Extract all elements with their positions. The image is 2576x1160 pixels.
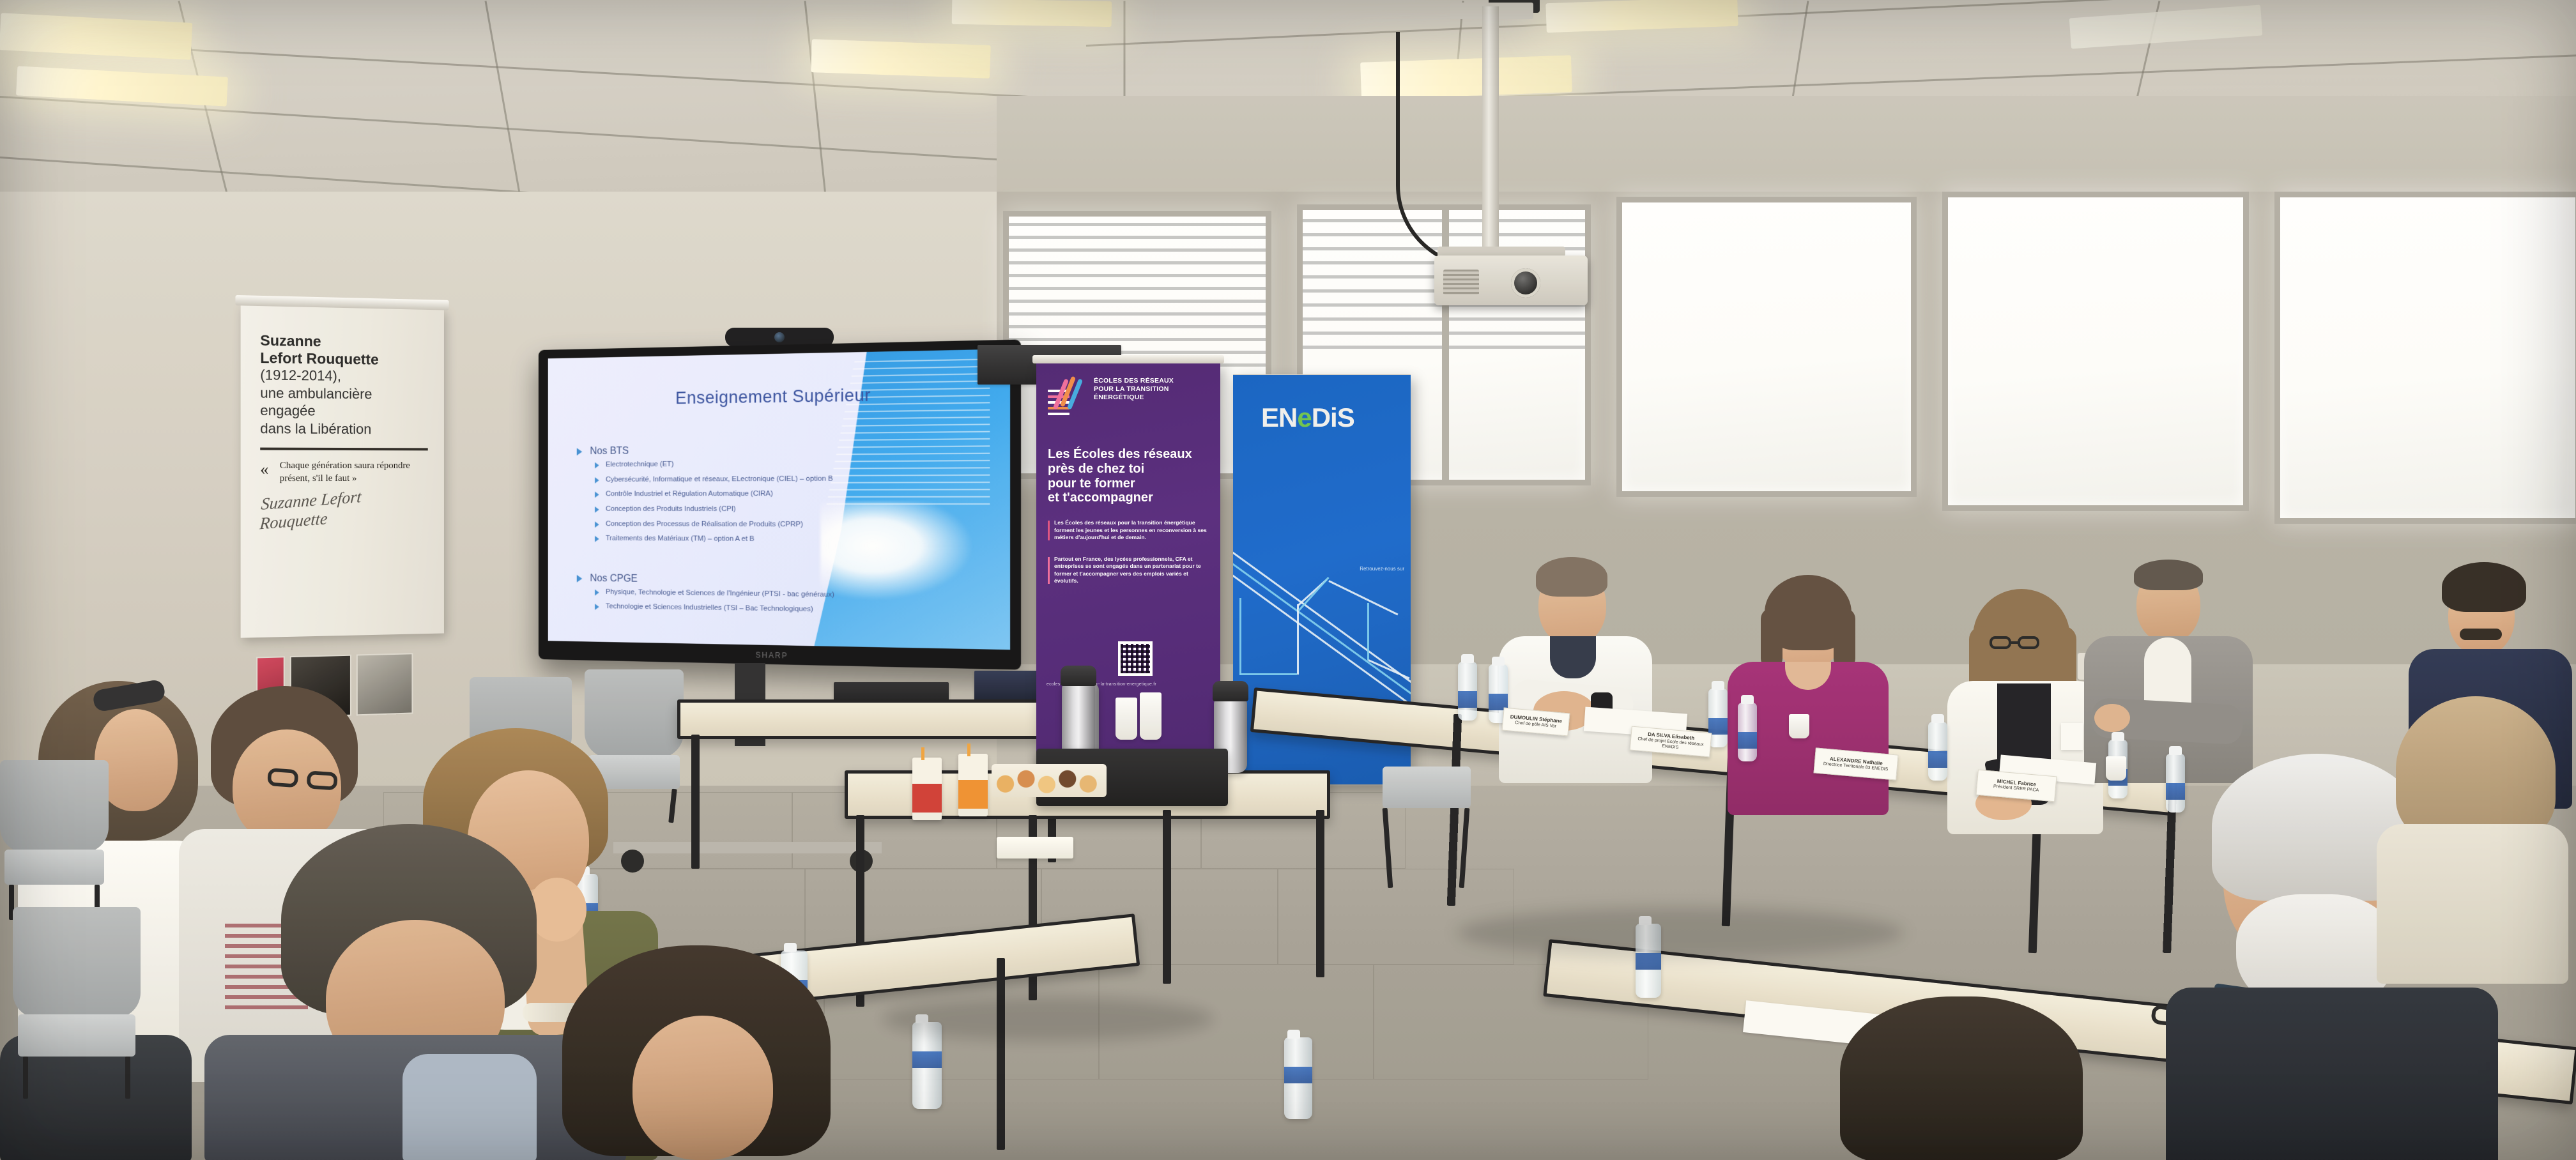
bottle-label bbox=[912, 1051, 942, 1068]
slide-body: Nos BTS Electrotechnique (ET) Cybersécur… bbox=[577, 444, 871, 622]
collar bbox=[1550, 636, 1596, 678]
hair-dark bbox=[1840, 996, 2083, 1160]
chair-back bbox=[13, 907, 141, 1018]
slide-bullet: Electrotechnique (ET) bbox=[595, 459, 871, 469]
chair[interactable] bbox=[0, 760, 109, 920]
banner-headline-2: près de chez toi bbox=[1048, 462, 1209, 477]
banner-headline-4: et t'accompagner bbox=[1048, 491, 1209, 505]
slide-section-label: Nos CPGE bbox=[590, 573, 637, 584]
chair-seat bbox=[4, 850, 104, 885]
slide-bullet-text: Technologie et Sciences Industrielles (T… bbox=[606, 603, 813, 614]
hair-side bbox=[1834, 608, 1855, 669]
banner-desc-line3: dans la Libération bbox=[260, 420, 427, 438]
chair[interactable] bbox=[1379, 767, 1475, 888]
chair-back bbox=[0, 760, 109, 853]
banner-rail bbox=[1233, 374, 1411, 375]
chair-seat bbox=[18, 1014, 135, 1057]
paper-cup-stack[interactable] bbox=[1115, 698, 1137, 740]
slide-bullet-text: Conception des Processus de Réalisation … bbox=[606, 520, 803, 528]
bullet-triangle-icon bbox=[595, 462, 599, 469]
name-badge bbox=[2061, 723, 2083, 750]
slide-bullet-text: Cybersécurité, Informatique et réseaux, … bbox=[606, 475, 833, 484]
projector-cable bbox=[1396, 32, 1492, 268]
banner-dates: (1912-2014), bbox=[260, 367, 427, 386]
hair bbox=[2442, 562, 2526, 612]
qr-code-icon bbox=[1118, 641, 1153, 676]
bullet-triangle-icon bbox=[595, 590, 599, 596]
moustache bbox=[2460, 629, 2502, 640]
bullet-triangle-icon bbox=[595, 521, 599, 528]
banner-divider bbox=[260, 447, 427, 450]
banner-rail bbox=[1032, 355, 1224, 363]
shirt-blue bbox=[402, 1054, 537, 1160]
head bbox=[632, 1016, 773, 1160]
wordmark-green-e: e bbox=[1297, 402, 1311, 432]
window bbox=[1942, 192, 2249, 511]
projector-vent bbox=[1443, 270, 1479, 295]
bottle-cap bbox=[1492, 657, 1505, 666]
bottle-label bbox=[1284, 1067, 1312, 1083]
attendee-dark-hair-foreground bbox=[549, 945, 882, 1160]
bottle-cap bbox=[1287, 1030, 1300, 1039]
projector bbox=[1434, 256, 1588, 305]
napkin-stack[interactable] bbox=[997, 837, 1073, 859]
slide-spacer bbox=[577, 549, 871, 576]
slide-bullet: Conception des Produits Industriels (CPI… bbox=[595, 505, 871, 514]
slide-bullet-text: Conception des Produits Industriels (CPI… bbox=[606, 505, 736, 514]
slide-section-cpge: Nos CPGE bbox=[577, 573, 871, 588]
bottle-cap bbox=[1461, 654, 1474, 663]
bullet-triangle-icon bbox=[595, 507, 599, 513]
enedis-wordmark: ENeDiS bbox=[1261, 402, 1354, 433]
hair bbox=[1536, 557, 1607, 597]
water-bottle[interactable] bbox=[1738, 703, 1757, 761]
banner-headline-1: Les Écoles des réseaux bbox=[1048, 447, 1209, 462]
attendee-blonde-right bbox=[2364, 696, 2575, 1016]
paper-cup[interactable] bbox=[2106, 756, 2126, 781]
bottle-cap bbox=[1712, 681, 1724, 690]
banner-logo-text: ÉCOLES DES RÉSEAUX POUR LA TRANSITION ÉN… bbox=[1094, 377, 1174, 402]
juice-carton-apple[interactable] bbox=[912, 758, 942, 820]
paper-cup[interactable] bbox=[1789, 714, 1809, 738]
paper-cup-stack[interactable] bbox=[1140, 692, 1161, 740]
bottle-label bbox=[1458, 691, 1477, 708]
bottle-cap bbox=[1741, 695, 1754, 704]
table-leg bbox=[1163, 810, 1171, 984]
banner-quote: « Chaque génération saura répondre prése… bbox=[260, 459, 427, 485]
banner-headline-3: pour te former bbox=[1048, 477, 1209, 491]
chair[interactable] bbox=[13, 907, 141, 1099]
quote-text: Chaque génération saura répondre présent… bbox=[280, 461, 410, 484]
logo-line3: ÉNERGÉTIQUE bbox=[1094, 393, 1174, 402]
quote-mark-icon: « bbox=[260, 458, 268, 480]
hair bbox=[2134, 560, 2203, 590]
hair-side bbox=[1761, 608, 1782, 669]
bottle-cap bbox=[1931, 714, 1944, 723]
slide-bullet-text: Contrôle Industriel et Régulation Automa… bbox=[606, 490, 773, 498]
banner-desc-line1: une ambulancière bbox=[260, 385, 427, 403]
chair-seat bbox=[1383, 767, 1471, 808]
attendee-bottom-center bbox=[1802, 996, 2134, 1160]
thermos-lid bbox=[1061, 666, 1096, 686]
bullet-triangle-icon bbox=[595, 477, 599, 484]
banner-name-line2: Lefort Rouquette bbox=[260, 349, 427, 369]
bullet-triangle-icon bbox=[595, 492, 599, 498]
wordmark-part2: DiS bbox=[1312, 402, 1354, 432]
juice-carton-orange[interactable] bbox=[958, 754, 988, 816]
banner-logo: ÉCOLES DES RÉSEAUX POUR LA TRANSITION ÉN… bbox=[1048, 377, 1209, 414]
window bbox=[2274, 192, 2576, 524]
projector-lens bbox=[1511, 268, 1540, 298]
straw-icon bbox=[967, 744, 970, 756]
bottle-label bbox=[1708, 718, 1728, 735]
presentation-display[interactable]: Enseignement Supérieur Nos BTS Electrote… bbox=[539, 339, 1021, 669]
projector-pole bbox=[1482, 6, 1499, 256]
bottle-label bbox=[1928, 751, 1947, 768]
display-brand-label: SHARP bbox=[756, 650, 788, 660]
torso-cream bbox=[2377, 824, 2568, 984]
slide-bullet: Contrôle Industriel et Régulation Automa… bbox=[595, 490, 871, 498]
slide: Enseignement Supérieur Nos BTS Electrote… bbox=[548, 349, 1010, 650]
banner-footer: Retrouvez-nous sur bbox=[1360, 566, 1404, 572]
banner-paragraph-1: Les Écoles des réseaux pour la transitio… bbox=[1048, 519, 1209, 542]
bullet-triangle-icon bbox=[595, 604, 599, 611]
slide-section-bts: Nos BTS bbox=[577, 444, 871, 457]
water-bottle[interactable] bbox=[1928, 722, 1947, 781]
slide-bullet: Physique, Technologie et Sciences de l'I… bbox=[595, 588, 871, 600]
bottle-label bbox=[1738, 732, 1757, 749]
straw-icon bbox=[921, 747, 924, 760]
ecoles-logo-icon bbox=[1048, 377, 1089, 414]
bullet-triangle-icon bbox=[577, 575, 582, 583]
bottle-cap bbox=[2112, 732, 2124, 741]
table-leg bbox=[997, 958, 1005, 1150]
water-bottle[interactable] bbox=[1284, 1037, 1312, 1119]
panelist-white-shirt bbox=[1489, 556, 1680, 856]
logo-line1: ÉCOLES DES RÉSEAUX bbox=[1094, 377, 1174, 385]
slide-bullet: Cybersécurité, Informatique et réseaux, … bbox=[595, 475, 871, 484]
banner-name-line1: Suzanne bbox=[260, 332, 427, 352]
slide-bullet-text: Physique, Technologie et Sciences de l'I… bbox=[606, 588, 834, 599]
slide-bullet: Conception des Processus de Réalisation … bbox=[595, 520, 871, 529]
meeting-room-photo: Suzanne Lefort Rouquette (1912-2014), un… bbox=[0, 0, 2576, 1160]
coffee-thermos-left[interactable] bbox=[1062, 682, 1095, 758]
banner-suzanne-lefort-rouquette: Suzanne Lefort Rouquette (1912-2014), un… bbox=[241, 304, 444, 637]
slide-bullet-text: Electrotechnique (ET) bbox=[606, 461, 673, 469]
slide-section-label: Nos BTS bbox=[590, 446, 629, 457]
pastry-tray[interactable] bbox=[992, 764, 1107, 797]
thermos-lid bbox=[1213, 681, 1248, 701]
ceiling-light bbox=[811, 39, 991, 79]
banner-desc-line2: engagée bbox=[260, 402, 427, 421]
bullet-triangle-icon bbox=[577, 448, 582, 455]
slide-bullet: Technologie et Sciences Industrielles (T… bbox=[595, 603, 871, 615]
slide-bullet-text: Traitements des Matériaux (TM) – option … bbox=[606, 535, 755, 544]
window bbox=[1616, 197, 1917, 497]
hand bbox=[2094, 704, 2130, 732]
bullet-triangle-icon bbox=[595, 536, 599, 542]
banner-signature: Suzanne Lefort Rouquette bbox=[259, 483, 429, 534]
water-bottle[interactable] bbox=[1458, 662, 1477, 721]
table-leg bbox=[1316, 810, 1324, 977]
banner-paragraph-2: Partout en France, des lycées profession… bbox=[1048, 556, 1209, 585]
hair-blonde bbox=[2396, 696, 2556, 843]
logo-line2: POUR LA TRANSITION bbox=[1094, 385, 1174, 393]
slide-bullet: Traitements des Matériaux (TM) – option … bbox=[595, 535, 871, 544]
table-leg bbox=[691, 735, 700, 869]
ceiling-light bbox=[952, 0, 1112, 27]
wordmark-part1: EN bbox=[1261, 402, 1297, 432]
